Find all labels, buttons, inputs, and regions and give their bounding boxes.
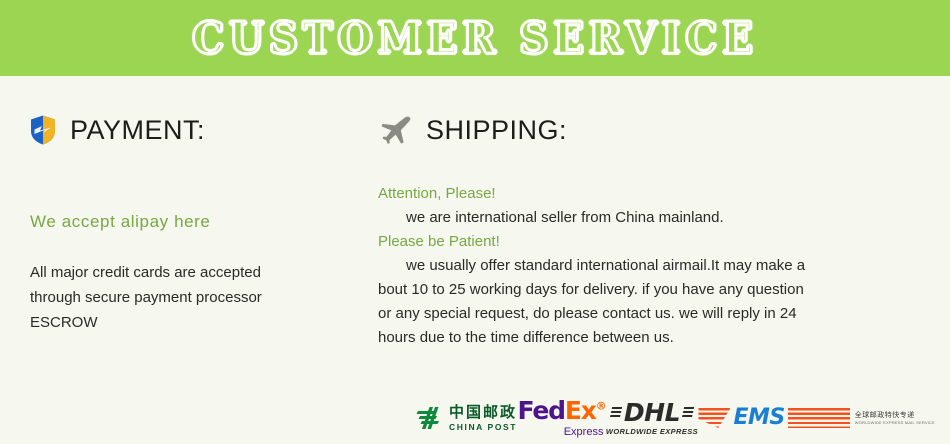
page-title: CUSTOMER SERVICE — [192, 13, 757, 64]
fedex-ex-text: Ex — [565, 396, 596, 425]
patient-body-line: hours due to the time difference between… — [378, 326, 903, 350]
china-post-wordmark: 中国邮政 CHINA POST — [449, 405, 517, 432]
patient-label: Please be Patient! — [378, 230, 903, 254]
china-post-en-text: CHINA POST — [449, 423, 517, 432]
fedex-subtitle: Express — [564, 426, 604, 438]
patient-body-line: or any special request, do please contac… — [378, 302, 903, 326]
payment-section: PAYMENT: We accept alipay here All major… — [30, 110, 380, 335]
carrier-logos: 中国邮政 CHINA POST FedEx® Express DHL WORLD… — [415, 396, 935, 440]
shipping-section-header: SHIPPING: — [378, 110, 938, 150]
payment-heading: PAYMENT: — [70, 115, 205, 146]
ems-logo: EMS 全球邮政特快专递 WORLDWIDE EXPRESS MAIL SERV… — [698, 407, 935, 429]
shipping-body: Attention, Please! we are international … — [378, 182, 903, 350]
fedex-registered-mark: ® — [596, 400, 606, 413]
fedex-logo: FedEx® Express — [518, 398, 606, 438]
patient-body-line: bout 10 to 25 working days for delivery.… — [378, 278, 903, 302]
fedex-fed-text: Fed — [518, 396, 565, 425]
ems-speed-stripes-right-icon — [788, 408, 850, 428]
escrow-line: All major credit cards are accepted — [30, 260, 330, 285]
payment-section-header: PAYMENT: — [30, 110, 380, 150]
shipping-heading: SHIPPING: — [426, 115, 567, 146]
fedex-wordmark: FedEx® — [518, 398, 606, 423]
patient-body-line: we usually offer standard international … — [378, 254, 903, 278]
china-post-cn-text: 中国邮政 — [449, 405, 517, 420]
escrow-line: through secure payment processor — [30, 285, 330, 310]
dhl-speedmark-left-icon — [610, 407, 622, 418]
shield-icon — [30, 115, 56, 145]
ems-subtitle-group: 全球邮政特快专递 WORLDWIDE EXPRESS MAIL SERVICE — [855, 411, 935, 424]
attention-body: we are international seller from China m… — [378, 206, 903, 230]
airplane-icon — [378, 116, 412, 144]
shipping-section: SHIPPING: Attention, Please! we are inte… — [378, 110, 938, 350]
dhl-subtitle: WORLDWIDE EXPRESS — [606, 427, 698, 436]
alipay-note: We accept alipay here — [30, 212, 380, 232]
dhl-main-text: DHL — [624, 400, 680, 425]
page-header-banner: CUSTOMER SERVICE — [0, 0, 950, 76]
ems-speed-stripes-left-icon — [698, 408, 730, 428]
ems-cn-text: 全球邮政特快专递 — [855, 411, 915, 419]
dhl-logo: DHL WORLDWIDE EXPRESS — [606, 400, 698, 436]
dhl-speedmark-right-icon — [682, 407, 694, 418]
escrow-line: ESCROW — [30, 310, 330, 335]
dhl-wordmark: DHL — [608, 400, 696, 425]
ems-wordmark: EMS — [733, 407, 784, 429]
china-post-emblem-icon — [415, 405, 442, 431]
escrow-note: All major credit cards are accepted thro… — [30, 260, 330, 335]
ems-en-text: WORLDWIDE EXPRESS MAIL SERVICE — [855, 420, 935, 425]
attention-label: Attention, Please! — [378, 182, 903, 206]
china-post-logo: 中国邮政 CHINA POST — [415, 405, 517, 432]
customer-service-page: CUSTOMER SERVICE PAYMENT: We accept alip… — [0, 0, 950, 444]
